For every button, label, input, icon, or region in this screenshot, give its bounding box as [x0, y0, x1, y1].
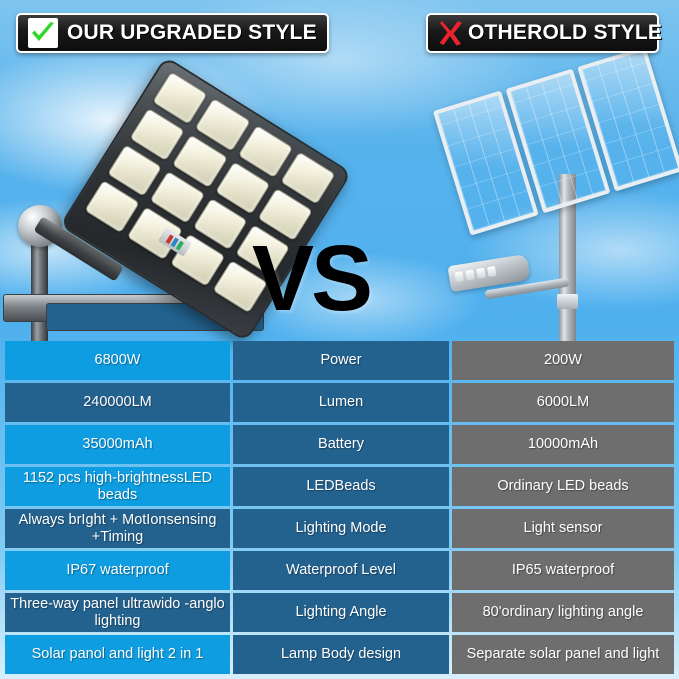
table-row: 1152 pcs high-brightnessLED beads LEDBea… — [5, 467, 674, 506]
cell-other: IP65 waterproof — [452, 551, 674, 590]
led-chip-row — [454, 266, 496, 282]
cell-feature: LEDBeads — [233, 467, 449, 506]
cell-ours: 1152 pcs high-brightnessLED beads — [5, 467, 230, 506]
cell-other: Light sensor — [452, 509, 674, 548]
cell-ours: 240000LM — [5, 383, 230, 422]
cell-ours: 6800W — [5, 341, 230, 380]
cell-ours: 35000mAh — [5, 425, 230, 464]
table-row: Always brIght + MotIonsensing +Timing Li… — [5, 509, 674, 548]
comparison-infographic: VS OUR UPGRADED STYLE OTHEROLD STYLE 680… — [0, 0, 679, 679]
cell-other: Ordinary LED beads — [452, 467, 674, 506]
cell-other: 10000mAh — [452, 425, 674, 464]
pole-band — [557, 294, 578, 309]
table-row: 240000LM Lumen 6000LM — [5, 383, 674, 422]
badge-our-upgraded-style: OUR UPGRADED STYLE — [16, 13, 329, 53]
led-chip — [476, 268, 485, 279]
table-row: 6800W Power 200W — [5, 341, 674, 380]
table-row: Solar panol and light 2 in 1 Lamp Body d… — [5, 635, 674, 674]
cell-other: 80'ordinary lighting angle — [452, 593, 674, 632]
cell-other: 6000LM — [452, 383, 674, 422]
led-chip — [487, 266, 496, 277]
cell-feature: Lighting Mode — [233, 509, 449, 548]
cell-ours: Three-way panel ultrawido -anglo lightin… — [5, 593, 230, 632]
cell-ours: Always brIght + MotIonsensing +Timing — [5, 509, 230, 548]
solar-panel-array — [433, 46, 679, 235]
cell-ours: IP67 waterproof — [5, 551, 230, 590]
check-icon — [28, 18, 58, 48]
comparison-table: 6800W Power 200W 240000LM Lumen 6000LM 3… — [5, 341, 674, 677]
cell-feature: Battery — [233, 425, 449, 464]
badge-label: OUR UPGRADED STYLE — [67, 21, 317, 45]
table-row: 35000mAh Battery 10000mAh — [5, 425, 674, 464]
vs-label: VS — [252, 232, 370, 325]
x-icon — [438, 18, 464, 48]
cell-feature: Lighting Angle — [233, 593, 449, 632]
table-row: IP67 waterproof Waterproof Level IP65 wa… — [5, 551, 674, 590]
cell-feature: Lamp Body design — [233, 635, 449, 674]
solar-pole-light-image — [409, 62, 679, 342]
led-chip — [465, 269, 474, 280]
cell-other: Separate solar panel and light — [452, 635, 674, 674]
cell-ours: Solar panol and light 2 in 1 — [5, 635, 230, 674]
cell-feature: Lumen — [233, 383, 449, 422]
table-row: Three-way panel ultrawido -anglo lightin… — [5, 593, 674, 632]
cell-other: 200W — [452, 341, 674, 380]
cell-feature: Power — [233, 341, 449, 380]
led-chip — [454, 271, 463, 282]
badge-other-old-style: OTHEROLD STYLE — [426, 13, 659, 53]
cell-feature: Waterproof Level — [233, 551, 449, 590]
badge-label: OTHEROLD STYLE — [468, 21, 662, 45]
